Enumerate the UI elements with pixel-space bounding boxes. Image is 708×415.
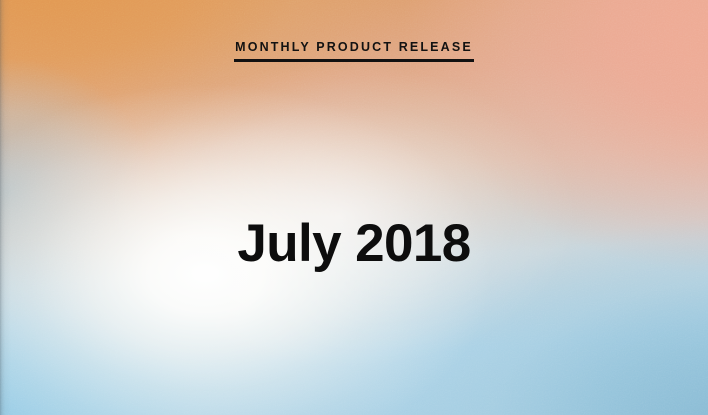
title-container: July 2018 — [0, 178, 708, 308]
title-slide: MONTHLY PRODUCT RELEASE July 2018 — [0, 0, 708, 415]
eyebrow-label: MONTHLY PRODUCT RELEASE — [234, 41, 474, 62]
slide-title: July 2018 — [237, 214, 470, 273]
eyebrow-container: MONTHLY PRODUCT RELEASE — [0, 38, 708, 62]
slide-content: MONTHLY PRODUCT RELEASE July 2018 — [0, 0, 708, 415]
